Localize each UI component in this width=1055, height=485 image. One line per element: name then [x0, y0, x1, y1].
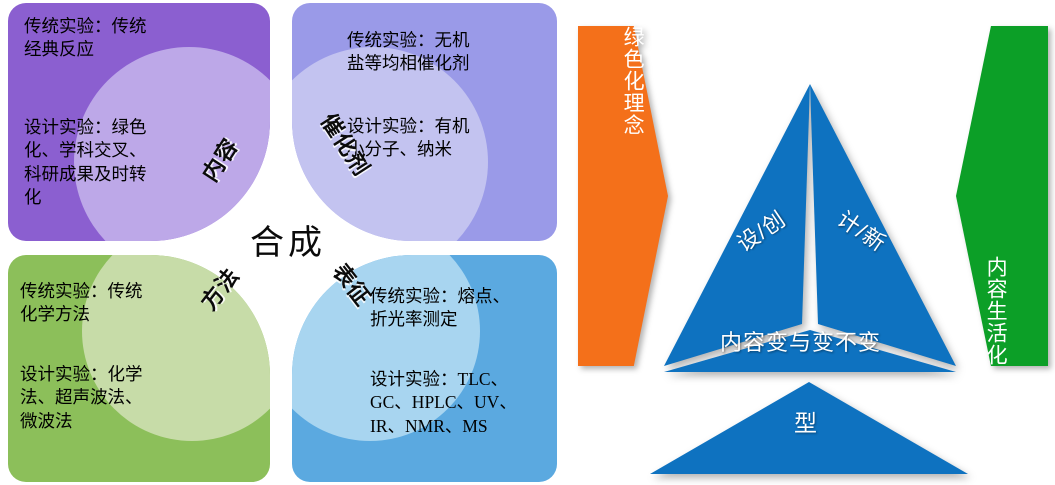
- quadrant-bottom-right[interactable]: 传统实验：熔点、 折光率测定 设计实验：TLC、 GC、HPLC、UV、 IR、…: [292, 255, 557, 482]
- right-panel: 绿色化理念 设/创 计/新 内容变与变不变 型 内容生活化: [570, 0, 1055, 485]
- diagram-canvas: 传统实验：传统 经典反应 设计实验：绿色 化、学科交叉、 科研成果及时转 化 传…: [0, 0, 1055, 485]
- quadrant-designed-text-bottom-right: 设计实验：TLC、 GC、HPLC、UV、 IR、NMR、MS: [370, 368, 517, 438]
- lower-triangle-label: 型: [794, 404, 817, 438]
- quadrant-traditional-text-top-left: 传统实验：传统 经典反应: [24, 15, 147, 62]
- lower-triangle[interactable]: 型: [650, 382, 968, 474]
- quadrant-traditional-text-bottom-right: 传统实验：熔点、 折光率测定: [370, 285, 510, 332]
- quadrant-traditional-text-top-right: 传统实验：无机 盐等均相催化剂: [347, 29, 470, 76]
- quadrant-designed-text-bottom-left: 设计实验：化学 法、超声波法、 微波法: [20, 363, 143, 433]
- matrix-center-label: 合成: [250, 215, 326, 264]
- quadrant-designed-text-top-left: 设计实验：绿色 化、学科交叉、 科研成果及时转 化: [24, 116, 147, 210]
- quadrant-top-left[interactable]: 传统实验：传统 经典反应 设计实验：绿色 化、学科交叉、 科研成果及时转 化: [8, 3, 270, 241]
- arrow-content-life-label: 内容生活化: [956, 26, 1048, 366]
- quadrant-traditional-text-bottom-left: 传统实验：传统 化学方法: [20, 280, 143, 327]
- pyramid-base-label: 内容变与变不变: [720, 325, 881, 357]
- arrow-content-life[interactable]: 内容生活化: [956, 26, 1048, 366]
- pyramid-shape[interactable]: 设/创 计/新 内容变与变不变: [650, 78, 970, 378]
- quadrant-matrix: 传统实验：传统 经典反应 设计实验：绿色 化、学科交叉、 科研成果及时转 化 传…: [0, 0, 570, 485]
